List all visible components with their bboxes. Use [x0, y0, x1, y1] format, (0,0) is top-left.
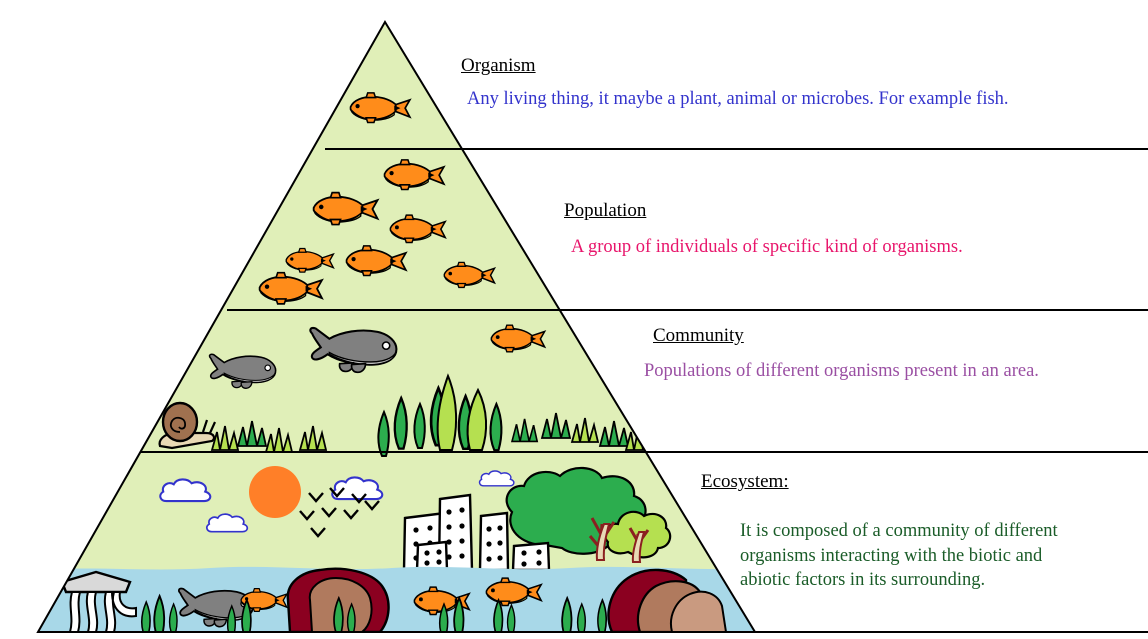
- sun-icon: [249, 466, 301, 518]
- tier-heading-population: Population: [564, 200, 646, 222]
- tier-description-ecosystem: It is composed of a community of differe…: [740, 519, 1092, 593]
- tier-heading-community: Community: [653, 325, 744, 347]
- tier-description-population: A group of individuals of specific kind …: [571, 237, 963, 258]
- ecology-pyramid-diagram: Organism Any living thing, it maybe a pl…: [0, 0, 1148, 639]
- tier-description-organism: Any living thing, it maybe a plant, anim…: [467, 89, 1009, 110]
- tier-heading-organism: Organism: [461, 55, 536, 77]
- tier-heading-ecosystem: Ecosystem:: [701, 471, 789, 493]
- tier-description-community: Populations of different organisms prese…: [644, 361, 1039, 382]
